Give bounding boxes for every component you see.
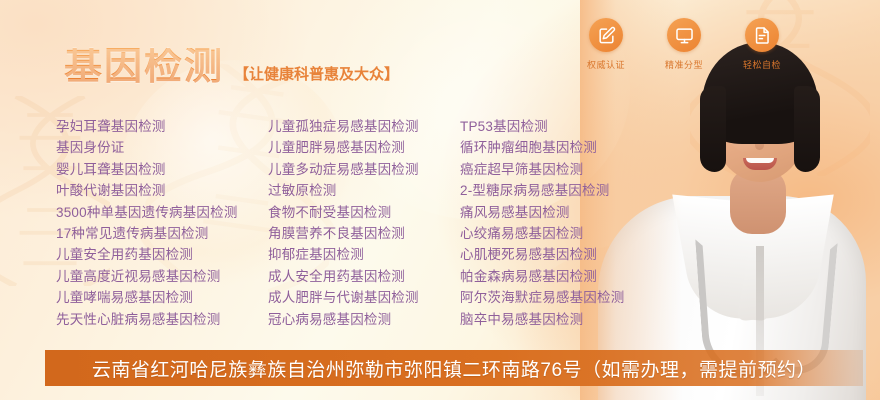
list-item[interactable]: 儿童高度近视易感基因检测 [56,266,268,287]
list-item[interactable]: 痛风易感基因检测 [460,202,710,223]
list-item[interactable]: 过敏原检测 [268,180,460,201]
list-item[interactable]: 儿童孤独症易感基因检测 [268,116,460,137]
list-item[interactable]: 儿童肥胖易感基因检测 [268,137,460,158]
address-banner: 云南省红河哈尼族彝族自治州弥勒市弥阳镇二环南路76号（如需办理，需提前预约） [45,350,863,386]
list-item[interactable]: TP53基因检测 [460,116,710,137]
list-item[interactable]: 婴儿耳聋基因检测 [56,159,268,180]
list-column-3: TP53基因检测 循环肿瘤细胞基因检测 癌症超早筛基因检测 2-型糖尿病易感基因… [460,116,710,330]
list-item[interactable]: 儿童安全用药基因检测 [56,244,268,265]
list-item[interactable]: 抑郁症基因检测 [268,244,460,265]
list-item[interactable]: 角膜营养不良基因检测 [268,223,460,244]
genetic-testing-poster: 基因检测 【让健康科普惠及大众】 权威认证 精准分型 [0,0,880,400]
list-item[interactable]: 基因身份证 [56,137,268,158]
list-item[interactable]: 循环肿瘤细胞基因检测 [460,137,710,158]
list-item[interactable]: 心绞痛易感基因检测 [460,223,710,244]
list-item[interactable]: 心肌梗死易感基因检测 [460,244,710,265]
address-banner-text: 云南省红河哈尼族彝族自治州弥勒市弥阳镇二环南路76号（如需办理，需提前预约） [92,355,816,382]
list-item[interactable]: 成人肥胖与代谢基因检测 [268,287,460,308]
title-main: 基因检测 [64,48,224,86]
badge-label: 精准分型 [665,58,703,71]
badge-label: 轻松自检 [743,58,781,71]
badge-easy-self-test[interactable]: 轻松自检 [736,18,788,71]
title-subtitle: 【让健康科普惠及大众】 [234,67,399,86]
list-item[interactable]: 儿童哮喘易感基因检测 [56,287,268,308]
test-item-lists: 孕妇耳聋基因检测 基因身份证 婴儿耳聋基因检测 叶酸代谢基因检测 3500种单基… [56,116,746,330]
list-item[interactable]: 孕妇耳聋基因检测 [56,116,268,137]
list-item[interactable]: 冠心病易感基因检测 [268,309,460,330]
list-item[interactable]: 帕金森病易感基因检测 [460,266,710,287]
badge-group: 权威认证 精准分型 轻松自检 [580,18,788,71]
list-item[interactable]: 先天性心脏病易感基因检测 [56,309,268,330]
list-item[interactable]: 叶酸代谢基因检测 [56,180,268,201]
list-item[interactable]: 脑卒中易感基因检测 [460,309,710,330]
badge-precise-typing[interactable]: 精准分型 [658,18,710,71]
badge-label: 权威认证 [587,58,625,71]
list-item[interactable]: 17种常见遗传病基因检测 [56,223,268,244]
list-column-1: 孕妇耳聋基因检测 基因身份证 婴儿耳聋基因检测 叶酸代谢基因检测 3500种单基… [56,116,268,330]
page-title: 基因检测 【让健康科普惠及大众】 [64,48,399,86]
list-item[interactable]: 食物不耐受基因检测 [268,202,460,223]
list-column-2: 儿童孤独症易感基因检测 儿童肥胖易感基因检测 儿童多动症易感基因检测 过敏原检测… [268,116,460,330]
list-item[interactable]: 成人安全用药基因检测 [268,266,460,287]
badge-authority-certification[interactable]: 权威认证 [580,18,632,71]
list-item[interactable]: 2-型糖尿病易感基因检测 [460,180,710,201]
report-document-icon [745,18,779,52]
monitor-icon [667,18,701,52]
certificate-pen-icon [589,18,623,52]
list-item[interactable]: 3500种单基因遗传病基因检测 [56,202,268,223]
list-item[interactable]: 阿尔茨海默症易感基因检测 [460,287,710,308]
list-item[interactable]: 儿童多动症易感基因检测 [268,159,460,180]
list-item[interactable]: 癌症超早筛基因检测 [460,159,710,180]
